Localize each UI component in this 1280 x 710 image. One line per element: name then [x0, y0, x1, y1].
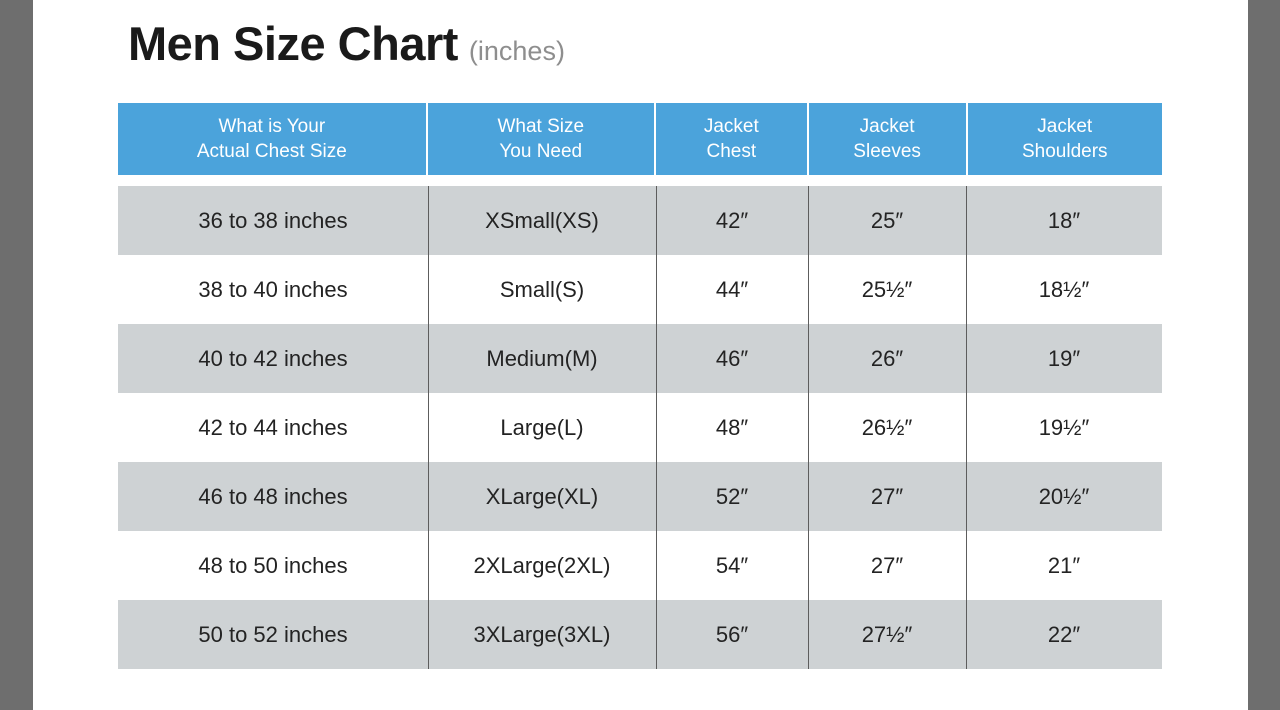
cell-jacket-sleeves: 26″: [808, 324, 966, 393]
table-row: 50 to 52 inches 3XLarge(3XL) 56″ 27½″ 22…: [118, 600, 1162, 669]
cell-size: Small(S): [428, 255, 656, 324]
page-title-unit-note: (inches): [469, 38, 565, 65]
column-header-line1: Jacket: [704, 114, 759, 139]
column-header-line1: What is Your: [218, 114, 325, 139]
column-header-size-you-need: What Size You Need: [428, 103, 656, 175]
cell-jacket-shoulders: 21″: [966, 531, 1162, 600]
size-chart-table: What is Your Actual Chest Size What Size…: [118, 103, 1162, 669]
cell-chest-range: 40 to 42 inches: [118, 324, 428, 393]
column-header-line2: Shoulders: [1022, 139, 1108, 164]
cell-jacket-shoulders: 19″: [966, 324, 1162, 393]
column-header-jacket-chest: Jacket Chest: [656, 103, 809, 175]
cell-jacket-sleeves: 27½″: [808, 600, 966, 669]
table-header-row: What is Your Actual Chest Size What Size…: [118, 103, 1162, 175]
letterbox-band-left: [0, 0, 33, 710]
column-header-line1: Jacket: [1037, 114, 1092, 139]
cell-jacket-sleeves: 26½″: [808, 393, 966, 462]
cell-jacket-shoulders: 20½″: [966, 462, 1162, 531]
column-header-line2: Chest: [706, 139, 756, 164]
table-row: 48 to 50 inches 2XLarge(2XL) 54″ 27″ 21″: [118, 531, 1162, 600]
column-header-jacket-shoulders: Jacket Shoulders: [968, 103, 1163, 175]
letterbox-band-right: [1248, 0, 1280, 710]
cell-jacket-shoulders: 18″: [966, 186, 1162, 255]
size-chart-canvas: Men Size Chart (inches) What is Your Act…: [33, 0, 1248, 710]
cell-jacket-chest: 54″: [656, 531, 808, 600]
cell-size: Medium(M): [428, 324, 656, 393]
cell-chest-range: 46 to 48 inches: [118, 462, 428, 531]
cell-jacket-shoulders: 18½″: [966, 255, 1162, 324]
cell-size: 3XLarge(3XL): [428, 600, 656, 669]
cell-size: Large(L): [428, 393, 656, 462]
cell-jacket-sleeves: 27″: [808, 531, 966, 600]
cell-chest-range: 42 to 44 inches: [118, 393, 428, 462]
column-header-line2: You Need: [499, 139, 582, 164]
cell-jacket-sleeves: 25½″: [808, 255, 966, 324]
cell-size: XLarge(XL): [428, 462, 656, 531]
cell-size: 2XLarge(2XL): [428, 531, 656, 600]
column-header-line1: What Size: [497, 114, 584, 139]
column-header-line2: Actual Chest Size: [197, 139, 347, 164]
table-row: 36 to 38 inches XSmall(XS) 42″ 25″ 18″: [118, 186, 1162, 255]
column-header-actual-chest-size: What is Your Actual Chest Size: [118, 103, 428, 175]
column-header-line1: Jacket: [860, 114, 915, 139]
header-body-gap: [118, 175, 1162, 186]
cell-jacket-shoulders: 19½″: [966, 393, 1162, 462]
cell-size: XSmall(XS): [428, 186, 656, 255]
cell-jacket-sleeves: 27″: [808, 462, 966, 531]
cell-chest-range: 50 to 52 inches: [118, 600, 428, 669]
cell-jacket-chest: 52″: [656, 462, 808, 531]
cell-jacket-chest: 46″: [656, 324, 808, 393]
cell-jacket-chest: 44″: [656, 255, 808, 324]
table-row: 40 to 42 inches Medium(M) 46″ 26″ 19″: [118, 324, 1162, 393]
column-header-jacket-sleeves: Jacket Sleeves: [809, 103, 968, 175]
cell-jacket-chest: 42″: [656, 186, 808, 255]
cell-chest-range: 48 to 50 inches: [118, 531, 428, 600]
table-row: 38 to 40 inches Small(S) 44″ 25½″ 18½″: [118, 255, 1162, 324]
page-title: Men Size Chart (inches): [128, 20, 565, 67]
cell-chest-range: 36 to 38 inches: [118, 186, 428, 255]
column-header-line2: Sleeves: [853, 139, 921, 164]
cell-jacket-shoulders: 22″: [966, 600, 1162, 669]
table-row: 46 to 48 inches XLarge(XL) 52″ 27″ 20½″: [118, 462, 1162, 531]
cell-jacket-chest: 48″: [656, 393, 808, 462]
table-row: 42 to 44 inches Large(L) 48″ 26½″ 19½″: [118, 393, 1162, 462]
page-title-text: Men Size Chart: [128, 20, 458, 67]
cell-jacket-sleeves: 25″: [808, 186, 966, 255]
cell-jacket-chest: 56″: [656, 600, 808, 669]
cell-chest-range: 38 to 40 inches: [118, 255, 428, 324]
